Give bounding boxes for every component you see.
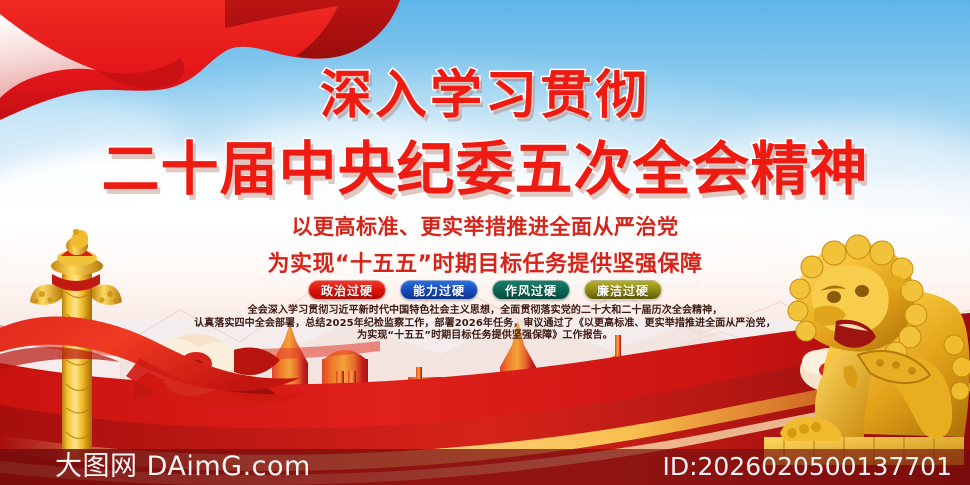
- poster-subtitle-line-2: 为实现“十五五”时期目标任务提供坚强保障: [0, 246, 970, 278]
- poster-body-paragraph: 全会深入学习贯彻习近平新时代中国特色社会主义思想，全面贯彻落实党的二十大和二十届…: [0, 305, 970, 343]
- badge-ability[interactable]: 能力过硬: [400, 280, 478, 300]
- poster-title-line-1: 深入学习贯彻: [0, 70, 970, 122]
- badge-political[interactable]: 政治过硬: [308, 280, 386, 300]
- paragraph-line: 为实现“十五五”时期目标任务提供坚强保障》工作报告。: [0, 330, 970, 343]
- badge-row: 政治过硬 能力过硬 作风过硬 廉洁过硬: [0, 280, 970, 300]
- site-watermark: 大图网 DAimG.com: [55, 444, 311, 483]
- badge-integrity[interactable]: 廉洁过硬: [584, 280, 662, 300]
- badge-work-style[interactable]: 作风过硬: [492, 280, 570, 300]
- paragraph-line: 全会深入学习贯彻习近平新时代中国特色社会主义思想，全面贯彻落实党的二十大和二十届…: [0, 305, 970, 318]
- image-id-label: ID:2026020500137701: [662, 452, 952, 481]
- paragraph-line: 认真落实四中全会部署，总结2025年纪检监察工作，部署2026年任务，审议通过了…: [0, 318, 970, 331]
- poster-title-line-2: 二十届中央纪委五次全会精神: [0, 140, 970, 198]
- poster-subtitle-line-1: 以更高标准、更实举措推进全面从严治党: [0, 211, 970, 241]
- poster-canvas: 深入学习贯彻 二十届中央纪委五次全会精神 以更高标准、更实举措推进全面从严治党 …: [0, 0, 970, 485]
- poster-text-content: 深入学习贯彻 二十届中央纪委五次全会精神 以更高标准、更实举措推进全面从严治党 …: [0, 0, 970, 485]
